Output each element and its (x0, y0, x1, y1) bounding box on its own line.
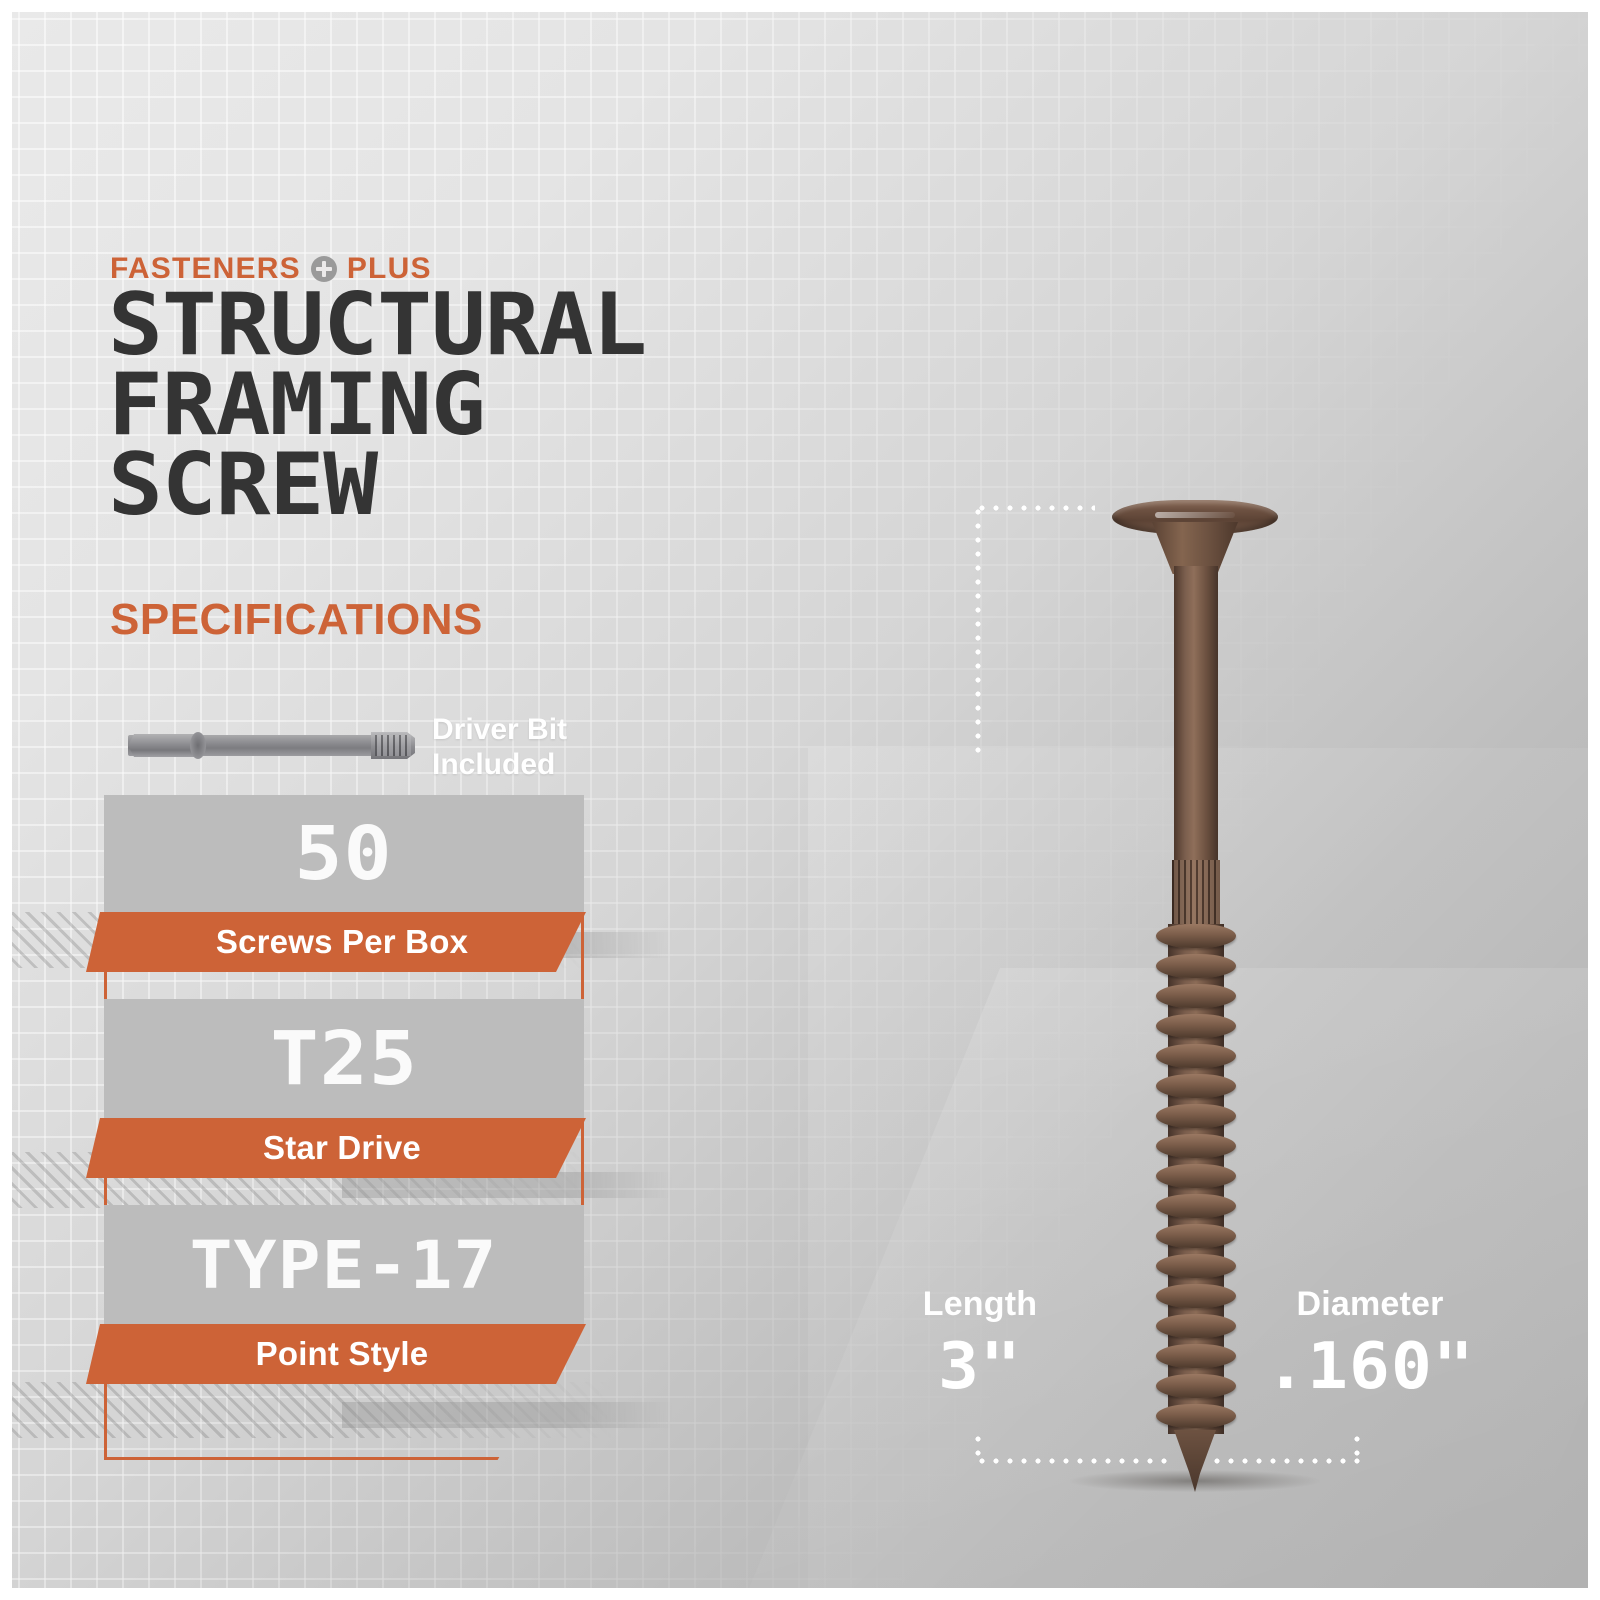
dimension-line-top-vertical (975, 505, 981, 760)
dimension-tick-left (975, 1432, 981, 1462)
bit-hex-shank (128, 734, 194, 757)
screw-thread-ridge (1156, 1044, 1236, 1068)
spec-label-ribbon: Point Style (86, 1324, 586, 1384)
screw-type17-point (1174, 1430, 1216, 1492)
bit-retaining-groove (190, 732, 206, 759)
spec-card-list: 50 Screws Per Box T25 Star Drive TYPE-17… (104, 795, 584, 1411)
spec-label: Star Drive (263, 1129, 421, 1167)
spec-card-screws-per-box: 50 Screws Per Box (104, 795, 584, 972)
screw-thread-ridge (1156, 1224, 1236, 1248)
title-line-1: STRUCTURAL (108, 286, 646, 366)
spec-value: 50 (295, 811, 393, 897)
screw-thread-ridge (1156, 1254, 1236, 1278)
screw-knurled-section (1172, 860, 1220, 932)
spec-label-ribbon: Star Drive (86, 1118, 586, 1178)
screw-thread-ridge (1156, 1344, 1236, 1368)
screw-thread-ridge (1156, 1164, 1236, 1188)
spec-card-point-style: TYPE-17 Point Style (104, 1205, 584, 1384)
driver-bit-label: Driver Bit Included (432, 712, 567, 783)
title-line-2: FRAMING (108, 366, 646, 446)
screw-thread-ridge (1156, 1374, 1236, 1398)
spec-value: TYPE-17 (190, 1227, 498, 1304)
torx-driver-bit-icon (128, 726, 413, 764)
screw-thread-ridge (1156, 1104, 1236, 1128)
spec-card-star-drive: T25 Star Drive (104, 999, 584, 1178)
measurement-length-value: 3" (890, 1330, 1070, 1404)
screw-thread-ridge (1156, 1314, 1236, 1338)
screw-smooth-shank (1174, 566, 1218, 866)
screw-thread-ridge (1156, 1194, 1236, 1218)
measurement-length-label: Length (895, 1285, 1065, 1324)
measurement-length: Length 3" (895, 1285, 1065, 1404)
driver-bit-label-line-2: Included (432, 747, 567, 782)
screw-thread-ridge (1156, 1284, 1236, 1308)
dimension-tick-right (1354, 1432, 1360, 1462)
spec-value-box: 50 (104, 795, 584, 913)
measurement-length-value-wrap: 3" (895, 1330, 1065, 1404)
spec-value: T25 (270, 1016, 418, 1102)
screw-thread-ridge (1156, 984, 1236, 1008)
subtitle-specifications: SPECIFICATIONS (110, 595, 483, 645)
screw-thread-ridge (1156, 1134, 1236, 1158)
screw-thread-ridge (1156, 1014, 1236, 1038)
screw-thread-ridge (1156, 924, 1236, 948)
page-title: STRUCTURAL FRAMING SCREW (108, 286, 646, 526)
title-line-3: SCREW (108, 446, 646, 526)
spec-label: Point Style (256, 1335, 429, 1373)
screw-threaded-section (1156, 924, 1236, 1434)
spec-label: Screws Per Box (216, 923, 468, 961)
driver-bit-label-line-1: Driver Bit (432, 712, 567, 747)
screw-thread-ridge (1156, 1074, 1236, 1098)
screw-thread-ridge (1156, 1404, 1236, 1428)
spec-label-ribbon: Screws Per Box (86, 912, 586, 972)
spec-value-box: TYPE-17 (104, 1205, 584, 1325)
screw-thread-ridge (1156, 954, 1236, 978)
product-spec-graphic: FASTENERS PLUS STRUCTURAL FRAMING SCREW … (0, 0, 1600, 1600)
bit-torx-tip (371, 732, 415, 759)
spec-value-box: T25 (104, 999, 584, 1119)
structural-framing-screw-photo (1100, 500, 1290, 1490)
dimension-line-top-horizontal (975, 505, 1095, 511)
